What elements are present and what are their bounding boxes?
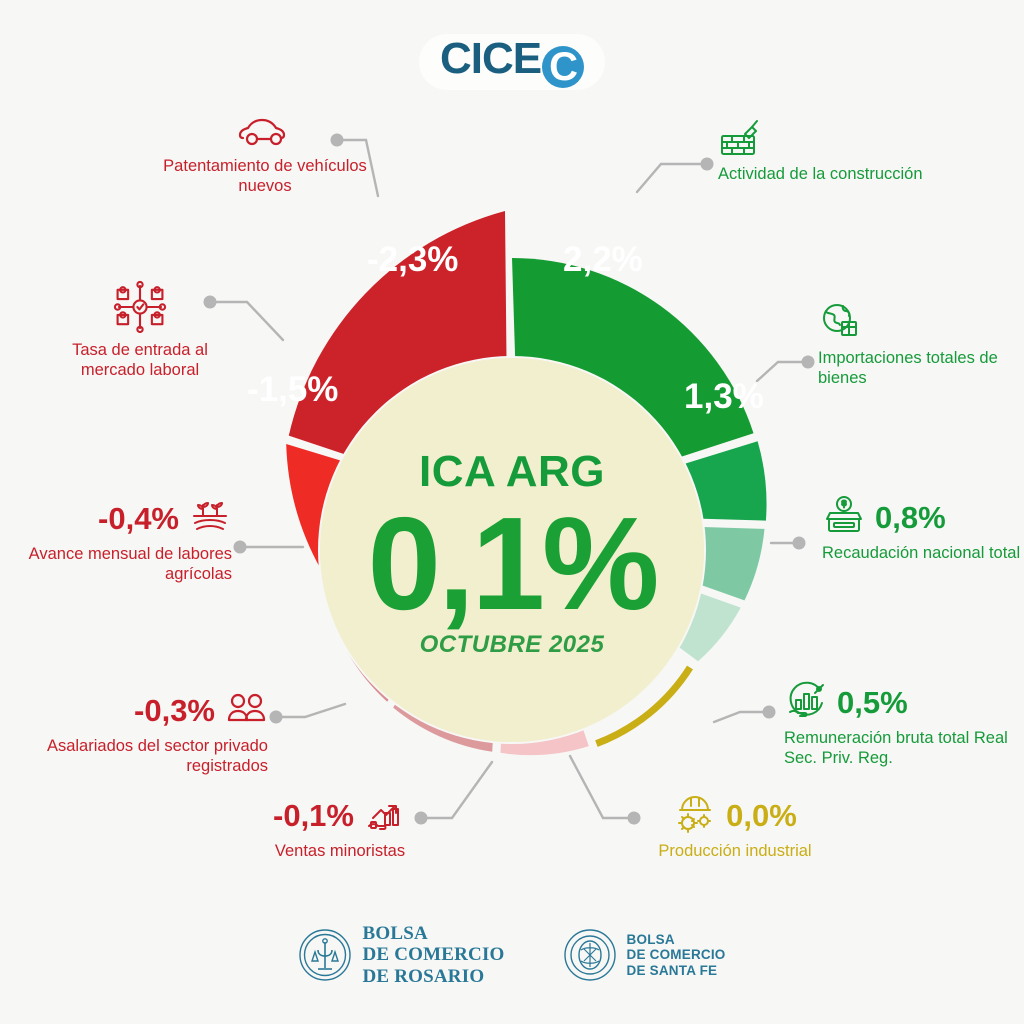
wedge-value-importaciones: 1,3% xyxy=(684,377,764,417)
bcr-seal-icon xyxy=(298,928,352,982)
connector-dot-agricolas xyxy=(234,541,247,554)
connector-importaciones xyxy=(757,362,808,381)
index-period: OCTUBRE 2025 xyxy=(420,631,605,659)
connector-asalariados xyxy=(276,704,345,717)
connector-ventas xyxy=(421,762,492,818)
callout-label-ventas: Ventas minoristas xyxy=(250,842,430,862)
callout-value-recaudacion: 0,8% xyxy=(875,502,946,533)
callout-label-patentamiento: Patentamiento de vehículos nuevos xyxy=(160,157,370,197)
connector-dot-remuneracion xyxy=(763,706,776,719)
callout-label-mercado-laboral: Tasa de entrada al mercado laboral xyxy=(40,341,240,381)
brand-bcr-name: BOLSA DE COMERCIO DE ROSARIO xyxy=(362,923,504,987)
car-icon xyxy=(237,112,293,152)
callout-label-remuneracion: Remuneración bruta total Real Sec. Priv.… xyxy=(784,729,1014,769)
callout-row-ventas: -0,1% xyxy=(250,793,430,837)
brand-bcsf: BOLSA DE COMERCIO DE SANTA FE xyxy=(563,928,726,982)
callout-patentamiento[interactable]: Patentamiento de vehículos nuevos xyxy=(160,112,370,197)
connector-dot-construccion xyxy=(701,158,714,171)
index-value: 0,1% xyxy=(368,499,657,628)
bcsf-seal-icon xyxy=(563,928,617,982)
wedge-value-patentamiento: -2,3% xyxy=(367,240,458,280)
callout-row-patentamiento xyxy=(160,112,370,152)
helmet-gears-icon xyxy=(673,793,717,837)
callout-label-construccion: Actividad de la construcción xyxy=(718,165,1008,185)
callout-label-asalariados: Asalariados del sector privado registrad… xyxy=(28,737,268,777)
money-box-icon xyxy=(822,495,866,539)
callout-value-asalariados: -0,3% xyxy=(134,695,215,726)
wedge-value-mercado-laboral: -1,5% xyxy=(247,370,338,410)
hand-chart-icon xyxy=(784,680,828,724)
connector-remuneracion xyxy=(714,712,769,722)
two-people-icon xyxy=(224,688,268,732)
connector-dot-importaciones xyxy=(802,356,815,369)
callout-remuneracion[interactable]: 0,5% Remuneración bruta total Real Sec. … xyxy=(784,680,1014,769)
callout-construccion[interactable]: Actividad de la construcción xyxy=(718,116,1008,185)
globe-box-icon xyxy=(818,300,862,344)
callout-row-agricolas: -0,4% xyxy=(20,496,232,540)
brand-bcr-line3: DE ROSARIO xyxy=(362,966,504,987)
callout-value-ventas: -0,1% xyxy=(273,800,354,831)
connector-dot-asalariados xyxy=(270,711,283,724)
callout-value-produccion: 0,0% xyxy=(726,800,797,831)
callout-produccion[interactable]: 0,0% Producción industrial xyxy=(620,793,850,862)
callout-row-produccion: 0,0% xyxy=(620,793,850,837)
callout-row-recaudacion: 0,8% xyxy=(822,495,1022,539)
brand-bcr-line1: BOLSA xyxy=(362,923,504,944)
callout-label-importaciones: Importaciones totales de bienes xyxy=(818,349,1018,389)
callout-mercado-laboral[interactable]: Tasa de entrada al mercado laboral xyxy=(40,278,240,381)
center-panel: ICA ARG 0,1% OCTUBRE 2025 xyxy=(320,358,704,742)
brand-bcsf-line2: DE COMERCIO xyxy=(627,947,726,962)
callout-row-importaciones xyxy=(818,300,1018,344)
sprout-field-icon xyxy=(188,496,232,540)
connector-construccion xyxy=(637,164,707,192)
callout-importaciones[interactable]: Importaciones totales de bienes xyxy=(818,300,1018,389)
callout-row-mercado-laboral xyxy=(40,278,240,336)
people-network-icon xyxy=(111,278,169,336)
callout-label-agricolas: Avance mensual de labores agrícolas xyxy=(20,545,232,585)
brick-wall-trowel-icon xyxy=(718,116,762,160)
callout-value-remuneracion: 0,5% xyxy=(837,687,908,718)
brand-bcsf-line3: DE SANTA FE xyxy=(627,963,726,978)
footer-logos: BOLSA DE COMERCIO DE ROSARIO BOLSA DE CO… xyxy=(0,915,1024,995)
callout-label-produccion: Producción industrial xyxy=(620,842,850,862)
brand-bcr: BOLSA DE COMERCIO DE ROSARIO xyxy=(298,923,504,987)
callout-recaudacion[interactable]: 0,8% Recaudación nacional total xyxy=(822,495,1022,564)
brand-bcsf-line1: BOLSA xyxy=(627,932,726,947)
callout-ventas[interactable]: -0,1% Ventas minoristas xyxy=(250,793,430,862)
callout-agricolas[interactable]: -0,4% Avance mensual de labores agrícola… xyxy=(20,496,232,585)
hand-retail-chart-icon xyxy=(363,793,407,837)
callout-row-asalariados: -0,3% xyxy=(28,688,268,732)
brand-bcr-line2: DE COMERCIO xyxy=(362,944,504,965)
callout-row-remuneracion: 0,5% xyxy=(784,680,1014,724)
callout-row-construccion xyxy=(718,116,1008,160)
connector-dot-recaudacion xyxy=(793,537,806,550)
callout-asalariados[interactable]: -0,3% Asalariados del sector privado reg… xyxy=(28,688,268,777)
callout-label-recaudacion: Recaudación nacional total xyxy=(822,544,1022,564)
brand-bcsf-name: BOLSA DE COMERCIO DE SANTA FE xyxy=(627,932,726,977)
wedge-value-construccion: 2,2% xyxy=(563,240,643,280)
callout-value-agricolas: -0,4% xyxy=(98,503,179,534)
infographic-root: CICEC xyxy=(0,0,1024,1024)
